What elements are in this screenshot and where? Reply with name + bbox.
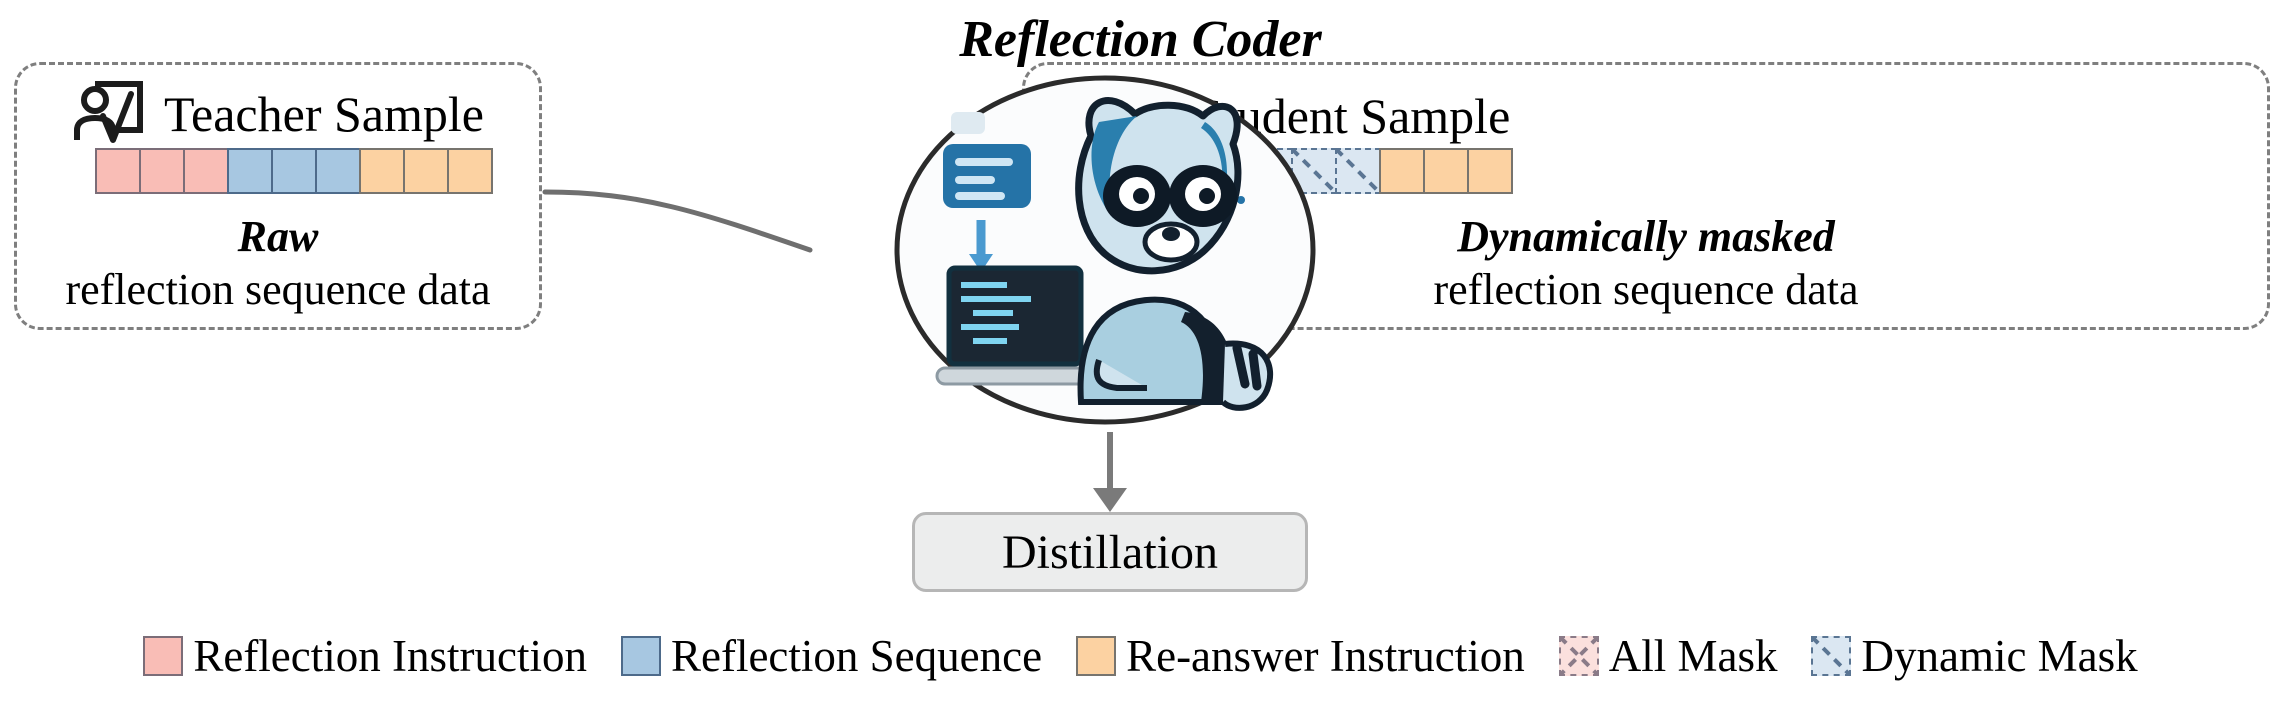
student-sequence-token xyxy=(1379,148,1425,194)
legend-swatch-pink xyxy=(143,636,183,676)
legend-swatch-orange xyxy=(1076,636,1116,676)
teacher-caption: Raw reflection sequence data xyxy=(14,212,542,315)
legend-swatch-blue-dynamic xyxy=(1811,636,1851,676)
teacher-sequence-token xyxy=(139,148,185,194)
teacher-sequence-token xyxy=(271,148,317,194)
teacher-sequence-token xyxy=(403,148,449,194)
teacher-sequence-token xyxy=(447,148,493,194)
legend-label: Dynamic Mask xyxy=(1861,630,2137,682)
legend-item: All Mask xyxy=(1559,630,1778,682)
teacher-sequence-token xyxy=(95,148,141,194)
teacher-caption-sub: reflection sequence data xyxy=(14,265,542,314)
distillation-label: Distillation xyxy=(1002,525,1218,580)
legend-item: Reflection Instruction xyxy=(143,630,587,682)
legend-label: All Mask xyxy=(1609,630,1778,682)
raccoon-coder-mascot-icon xyxy=(885,72,1325,428)
legend: Reflection InstructionReflection Sequenc… xyxy=(0,630,2281,682)
teacher-sequence-token xyxy=(183,148,229,194)
teacher-panel-title: Teacher Sample xyxy=(164,89,484,139)
student-sequence-token xyxy=(1335,148,1381,194)
legend-swatch-pink-all xyxy=(1559,636,1599,676)
legend-label: Reflection Instruction xyxy=(193,630,587,682)
page-title: Reflection Coder xyxy=(0,10,2281,69)
legend-item: Re-answer Instruction xyxy=(1076,630,1525,682)
teacher-caption-emphasis: Raw xyxy=(14,212,542,261)
teacher-token-sequence xyxy=(95,148,493,194)
legend-label: Reflection Sequence xyxy=(671,630,1042,682)
distillation-box[interactable]: Distillation xyxy=(912,512,1308,592)
teacher-person-checkmark-icon xyxy=(72,78,146,149)
legend-label: Re-answer Instruction xyxy=(1126,630,1525,682)
legend-item: Dynamic Mask xyxy=(1811,630,2137,682)
student-sequence-token xyxy=(1423,148,1469,194)
teacher-sequence-token xyxy=(359,148,405,194)
teacher-sequence-token xyxy=(315,148,361,194)
legend-item: Reflection Sequence xyxy=(621,630,1042,682)
student-sequence-token xyxy=(1467,148,1513,194)
teacher-sequence-token xyxy=(227,148,273,194)
legend-swatch-blue xyxy=(621,636,661,676)
teacher-panel-header: Teacher Sample xyxy=(72,78,484,149)
